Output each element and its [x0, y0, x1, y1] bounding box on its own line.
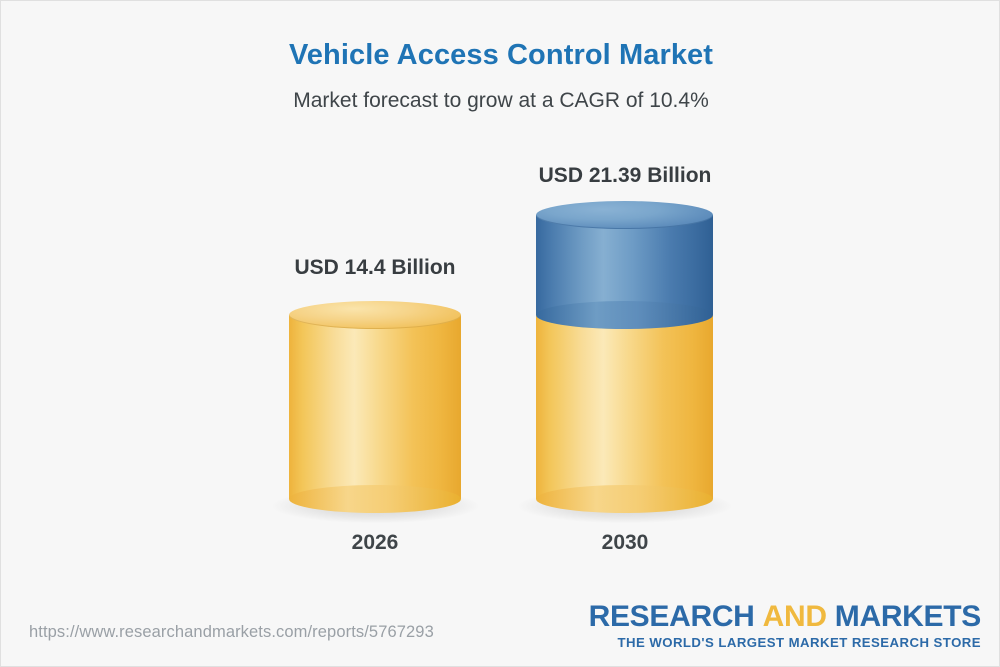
source-url[interactable]: https://www.researchandmarkets.com/repor…	[29, 623, 434, 642]
chart-subtitle: Market forecast to grow at a CAGR of 10.…	[1, 89, 1000, 113]
bar-2030-bottom-cap	[536, 485, 713, 513]
bar-2030-growth-bottom-cap	[536, 301, 713, 329]
bar-value-label-2030: USD 21.39 Billion	[509, 164, 741, 188]
bar-2030	[536, 201, 713, 513]
bar-2026	[289, 301, 461, 513]
bar-2030-segment-base	[536, 301, 713, 513]
bar-2030-segment-growth	[536, 201, 713, 315]
bar-2030-top-cap	[536, 201, 713, 229]
bar-2026-segment-base	[289, 301, 461, 513]
category-label-2026: 2026	[265, 531, 485, 555]
category-label-2030: 2030	[515, 531, 735, 555]
plot-area: USD 14.4 Billion USD 21.39 Billion 2026 …	[1, 131, 1000, 571]
bar-2026-top-cap	[289, 301, 461, 329]
chart-card: Vehicle Access Control Market Market for…	[0, 0, 1000, 667]
brand-word-research: RESEARCH	[589, 600, 755, 633]
brand-wordmark: RESEARCH AND MARKETS	[589, 602, 981, 632]
brand-word-and: AND	[763, 600, 827, 633]
bar-value-label-2026: USD 14.4 Billion	[265, 256, 485, 280]
bar-2026-bottom-cap	[289, 485, 461, 513]
bar-2030-base-body	[536, 315, 713, 499]
brand-tagline: THE WORLD'S LARGEST MARKET RESEARCH STOR…	[589, 635, 981, 650]
chart-title: Vehicle Access Control Market	[1, 39, 1000, 72]
brand-word-markets: MARKETS	[835, 600, 981, 633]
bar-2030-growth-body	[536, 215, 713, 315]
bar-2026-body	[289, 315, 461, 499]
brand-logo: RESEARCH AND MARKETS THE WORLD'S LARGEST…	[589, 602, 981, 650]
